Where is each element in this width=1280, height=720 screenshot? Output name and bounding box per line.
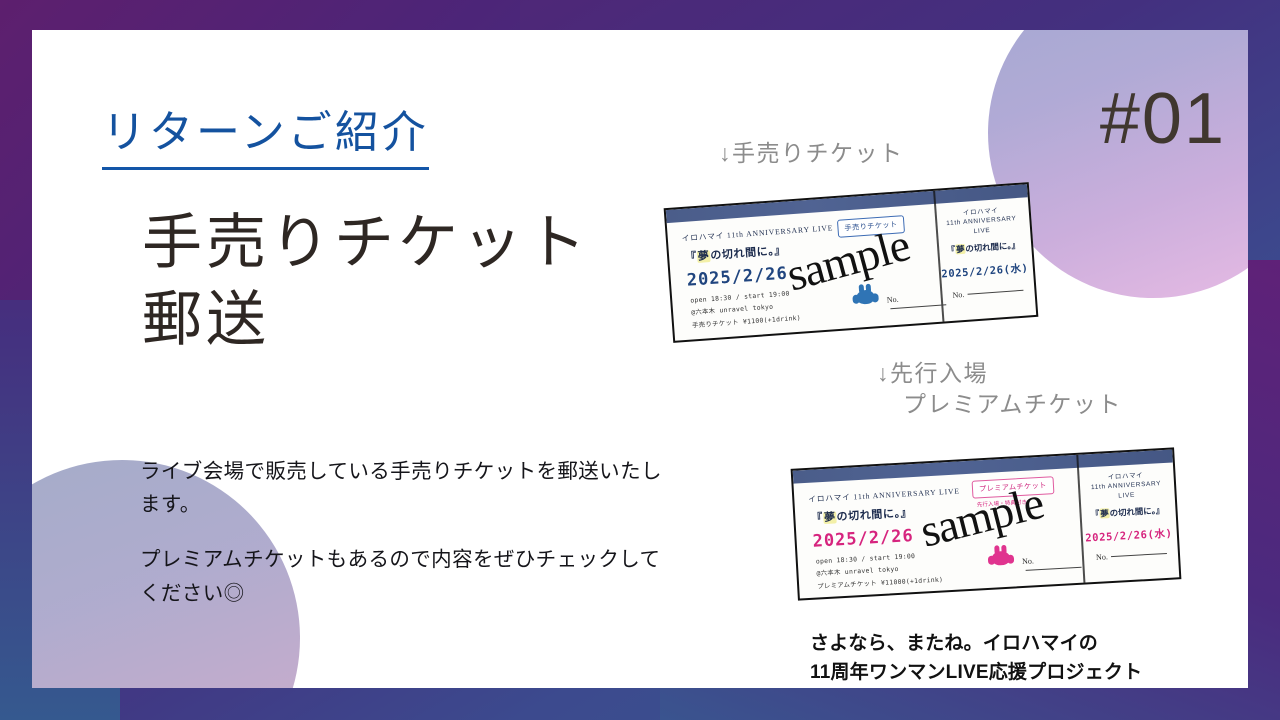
ticket-stub-show-title: 『夢の切れ間に。』 bbox=[1079, 503, 1176, 520]
annotation-ticket-1: ↓手売りチケット bbox=[719, 138, 904, 169]
ticket-show-title: 『夢の切れ間に。』 bbox=[811, 504, 913, 526]
footer-line-1: さよなら、またね。イロハマイの bbox=[810, 630, 1248, 659]
issue-number-badge: #01 bbox=[1100, 78, 1226, 160]
page-kicker: リターンご紹介 bbox=[102, 96, 429, 170]
ticket-venue: @六本木 unravel tokyo bbox=[691, 302, 774, 317]
page-title: 手売りチケット 郵送 bbox=[142, 205, 702, 359]
rabbit-mascot-icon bbox=[852, 283, 880, 309]
annotation-ticket-2-line-1: ↓先行入場 bbox=[877, 360, 988, 386]
ticket-open-start: open 18:30 / start 19:00 bbox=[816, 552, 916, 566]
ticket-date: 2025/2/26 bbox=[686, 264, 788, 291]
footer-line-2: 11周年ワンマンLIVE応援プロジェクト bbox=[810, 659, 1248, 688]
rabbit-mascot-icon bbox=[987, 545, 1014, 570]
annotation-ticket-2: ↓先行入場 プレミアムチケット bbox=[877, 358, 1122, 420]
ticket-stub-number-label: No. bbox=[952, 286, 1023, 300]
body-paragraph-1: ライブ会場で販売している手売りチケットを郵送いたします。 bbox=[140, 455, 680, 521]
ticket-open-start: open 18:30 / start 19:00 bbox=[690, 289, 790, 304]
ticket-price: プレミアムチケット ¥11000(+1drink) bbox=[817, 574, 943, 590]
ticket-show-title-highlight: 夢 bbox=[823, 511, 837, 524]
ticket-stub-number-label: No. bbox=[1096, 549, 1167, 562]
ticket-image-premium: イロハマイ 11th ANNIVERSARY LIVE 『夢の切れ間に。』 20… bbox=[791, 447, 1182, 600]
page-title-line-1: 手売りチケット bbox=[142, 205, 702, 282]
ticket-date: 2025/2/26 bbox=[812, 526, 914, 552]
page-title-line-2: 郵送 bbox=[142, 282, 702, 359]
ticket-stub-show-title: 『夢の切れ間に。』 bbox=[935, 238, 1032, 257]
ticket-stub-date: 2025/2/26(水) bbox=[937, 260, 1034, 282]
body-paragraph-2: プレミアムチケットもあるので内容をぜひチェックしてください◎ bbox=[140, 543, 680, 609]
ticket-number-label: No. bbox=[1022, 554, 1083, 575]
ticket-artist-line: イロハマイ 11th ANNIVERSARY LIVE bbox=[681, 222, 833, 244]
body-copy: ライブ会場で販売している手売りチケットを郵送いたします。 プレミアムチケットもあ… bbox=[140, 455, 680, 610]
ticket-stub-artist: イロハマイ 11th ANNIVERSARY LIVE bbox=[1077, 469, 1174, 502]
footer-tagline: さよなら、またね。イロハマイの 11周年ワンマンLIVE応援プロジェクト bbox=[810, 630, 1248, 687]
ticket-stub-title-highlight: 夢 bbox=[1099, 508, 1110, 519]
ticket-stub-section: イロハマイ 11th ANNIVERSARY LIVE 『夢の切れ間に。』 20… bbox=[1076, 449, 1179, 582]
ticket-stub-date: 2025/2/26(水) bbox=[1081, 525, 1178, 545]
ticket-show-title-highlight: 夢 bbox=[696, 250, 710, 263]
ticket-stub-artist: イロハマイ 11th ANNIVERSARY LIVE bbox=[933, 204, 1031, 239]
ticket-image-handsell: イロハマイ 11th ANNIVERSARY LIVE 『夢の切れ間に。』 20… bbox=[664, 182, 1039, 343]
ticket-stub-section: イロハマイ 11th ANNIVERSARY LIVE 『夢の切れ間に。』 20… bbox=[931, 184, 1036, 322]
ticket-venue: @六本木 unravel tokyo bbox=[816, 564, 899, 578]
slide-card: #01 リターンご紹介 手売りチケット 郵送 ライブ会場で販売している手売りチケ… bbox=[32, 30, 1248, 688]
annotation-ticket-2-line-2: プレミアムチケット bbox=[877, 389, 1122, 420]
ticket-show-title: 『夢の切れ間に。』 bbox=[685, 242, 787, 265]
